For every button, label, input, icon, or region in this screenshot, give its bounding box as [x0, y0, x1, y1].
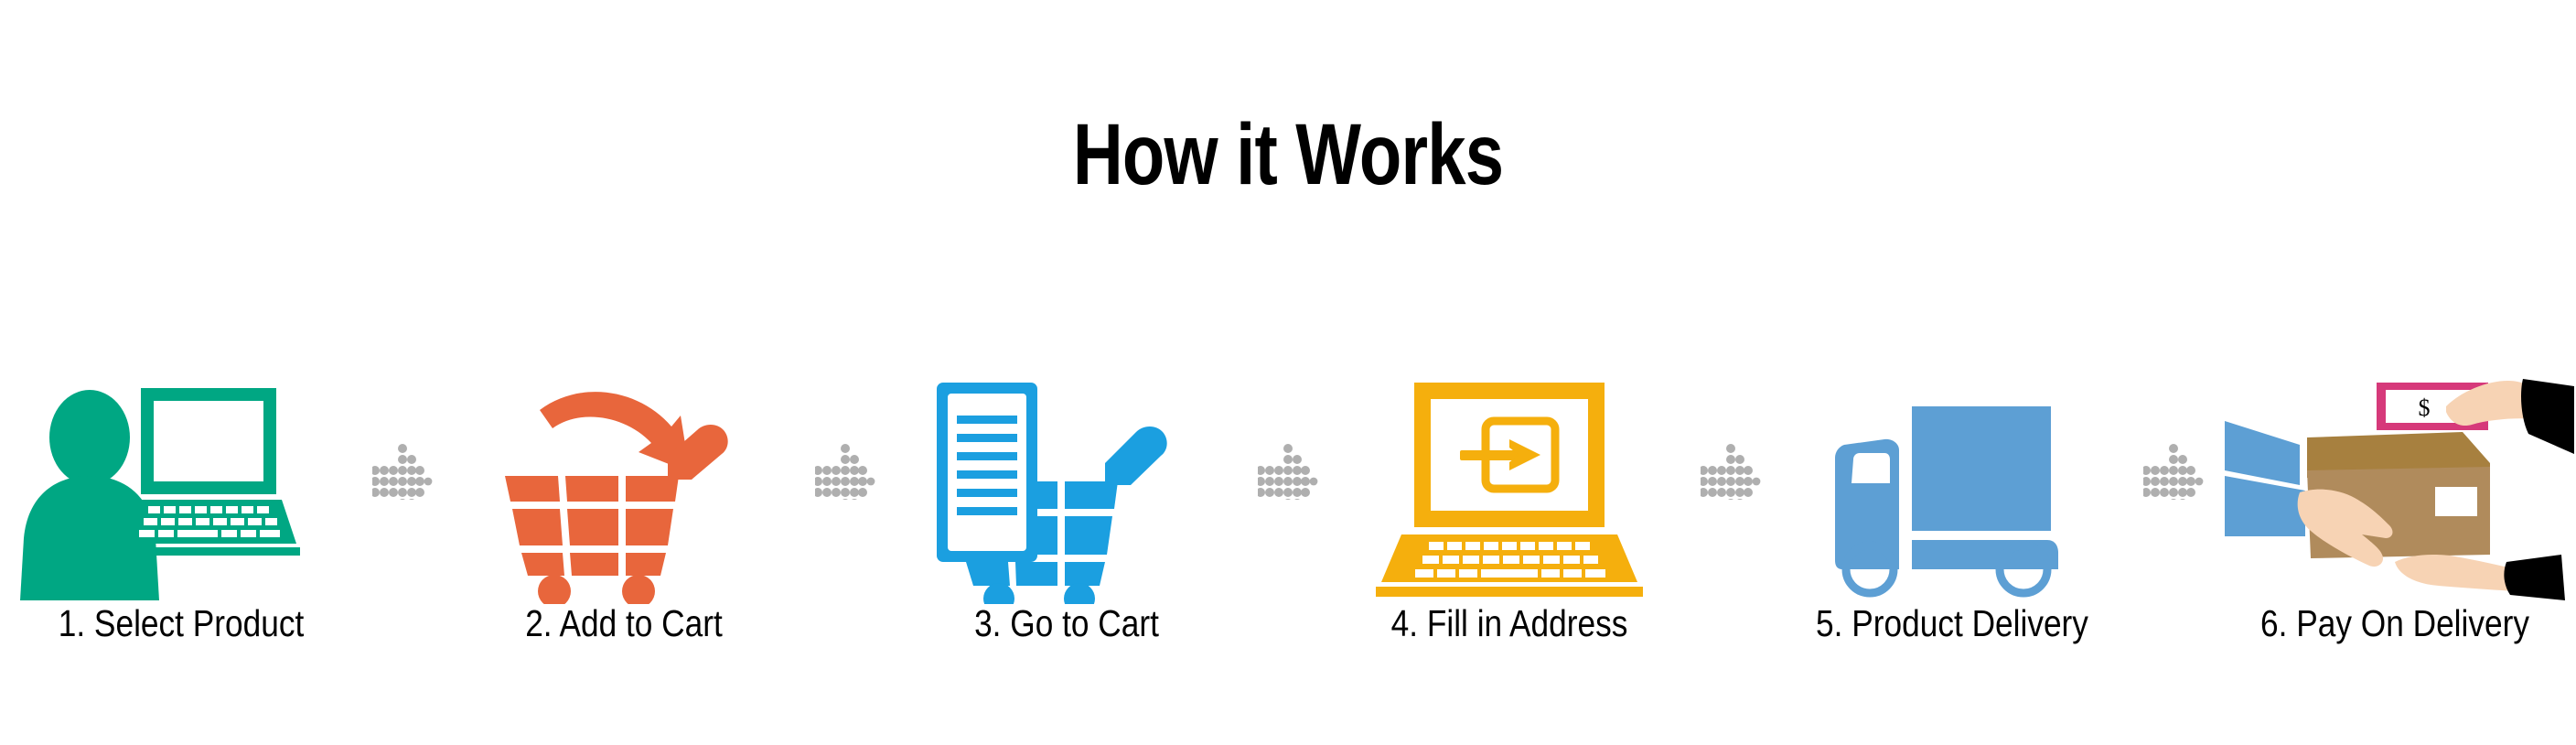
svg-text:$: $: [2419, 394, 2431, 421]
page-title: How it Works: [258, 112, 2319, 199]
step-4-label: 4. Fill in Address: [1355, 605, 1663, 642]
customer-hand-bottom: [2395, 555, 2517, 591]
dotted-arrow-right-icon: [803, 357, 887, 586]
step-6-label: 6. Pay On Delivery: [2240, 605, 2549, 642]
laptop-login-icon: [1330, 375, 1689, 604]
hands-exchange-box-and-cash-icon: $: [2216, 375, 2574, 604]
customer-sleeve-top: [2521, 379, 2574, 454]
dotted-arrow-right-icon: [1689, 357, 1773, 586]
step-2-label: 2. Add to Cart: [469, 605, 778, 642]
person-with-laptop-icon: [2, 375, 360, 604]
step-1-label: 1. Select Product: [27, 605, 335, 642]
step-5-label: 5. Product Delivery: [1798, 605, 2106, 642]
steps-strip: 1. Select Product: [0, 311, 2576, 604]
step-1-select-product[interactable]: 1. Select Product: [2, 311, 360, 604]
courier-sleeve: [2225, 421, 2305, 536]
step-6-pay-on-delivery[interactable]: $: [2216, 311, 2574, 604]
step-5-product-delivery[interactable]: 5. Product Delivery: [1773, 311, 2131, 604]
dotted-arrow-right-icon: [360, 357, 445, 586]
dotted-arrow-right-icon: [2131, 357, 2216, 586]
step-3-label: 3. Go to Cart: [912, 605, 1220, 642]
dotted-arrow-right-icon: [1246, 357, 1330, 586]
step-3-go-to-cart[interactable]: 3. Go to Cart: [887, 311, 1246, 604]
customer-sleeve-bottom: [2504, 555, 2565, 600]
step-2-add-to-cart[interactable]: 2. Add to Cart: [445, 311, 803, 604]
cart-with-arrow-icon: [445, 375, 803, 604]
document-with-cart-icon: [887, 375, 1246, 604]
step-4-fill-in-address[interactable]: 4. Fill in Address: [1330, 311, 1689, 604]
delivery-truck-icon: [1773, 375, 2131, 604]
